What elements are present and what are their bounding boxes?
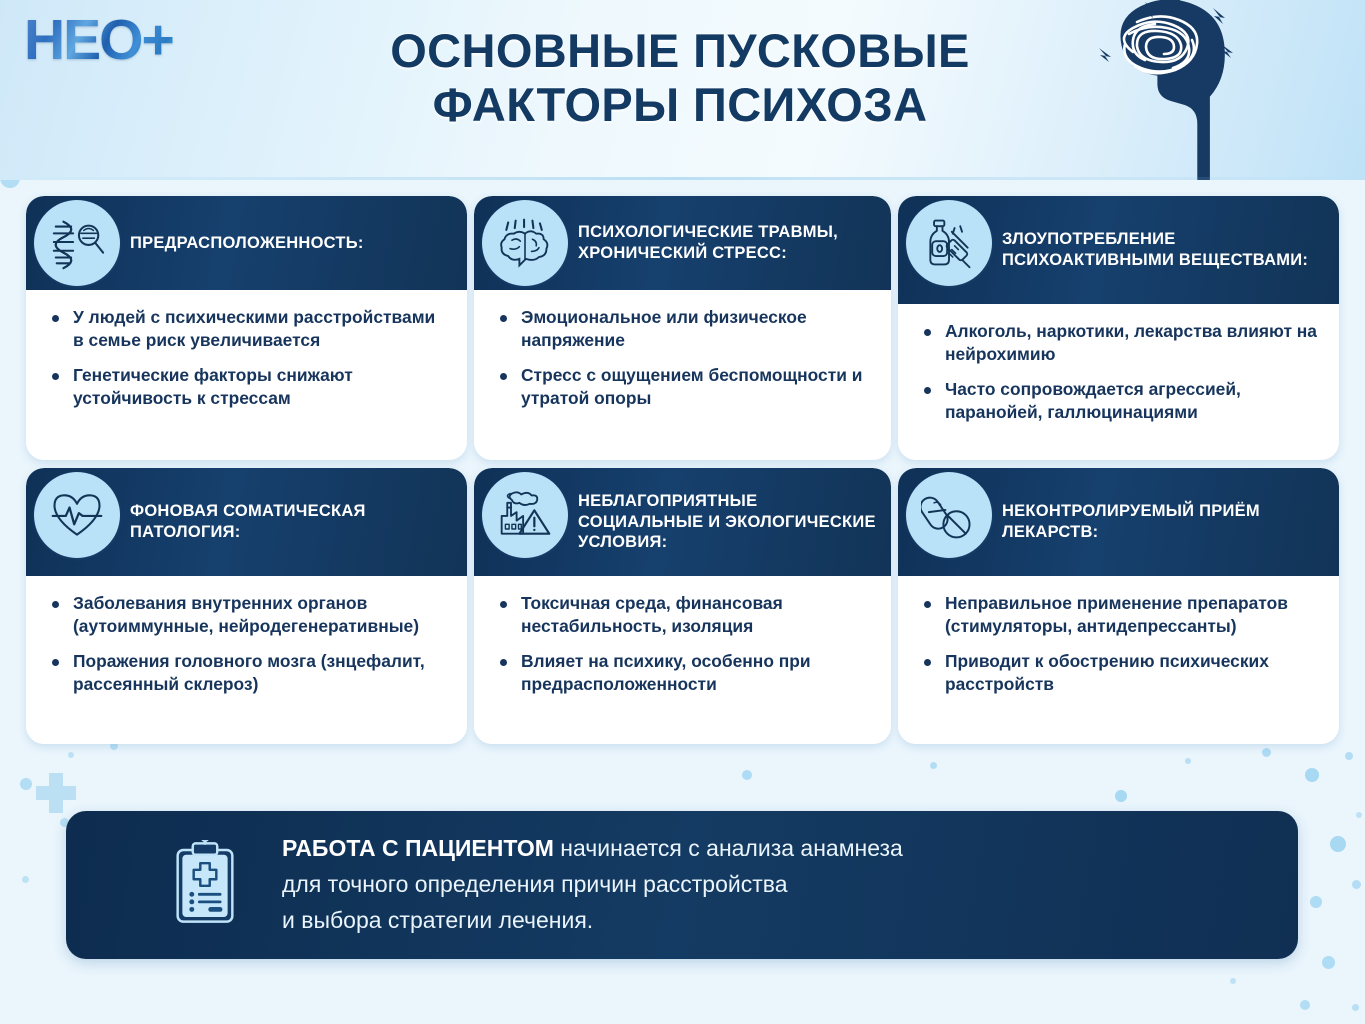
bullet-list: Токсичная среда, финансовая нестабильнос… [496,592,873,696]
banner-text: РАБОТА С ПАЦИЕНТОМ начинается с анализа … [282,831,903,939]
list-item: Генетические факторы снижают устойчивост… [48,364,449,409]
card-body: Токсичная среда, финансовая нестабильнос… [474,576,891,744]
factor-card-predisposition: ПРЕДРАСПОЛОЖЕННОСТЬ: У людей с психическ… [26,196,467,460]
head-with-tangled-thoughts-icon [1075,0,1305,180]
plus-decor-icon [36,786,76,800]
card-title: ФОНОВАЯ СОМАТИЧЕСКАЯ ПАТОЛОГИЯ: [130,501,467,543]
page-title-line-2: ФАКТОРЫ ПСИХОЗА [300,78,1060,132]
list-item: Стресс с ощущением беспомощности и утрат… [496,364,873,409]
list-item: Эмоциональное или физическое напряжение [496,306,873,351]
bullet-list: Заболевания внутренних органов (аутоимму… [48,592,449,696]
bottom-banner: РАБОТА С ПАЦИЕНТОМ начинается с анализа … [66,811,1298,959]
bullet-list: Эмоциональное или физическое напряжение … [496,306,873,410]
page-title: ОСНОВНЫЕ ПУСКОВЫЕ ФАКТОРЫ ПСИХОЗА [300,24,1060,131]
banner-line-1: РАБОТА С ПАЦИЕНТОМ начинается с анализа … [282,831,903,867]
banner-line-2: для точного определения причин расстройс… [282,867,903,903]
list-item: Влияет на психику, особенно при предрасп… [496,650,873,695]
page-header: НЕО+ ОСНОВНЫЕ ПУСКОВЫЕ ФАКТОРЫ ПСИХОЗА [0,0,1365,180]
list-item: Часто сопровождается агрессией, паранойе… [920,378,1321,423]
list-item: Заболевания внутренних органов (аутоимму… [48,592,449,637]
stressed-brain-icon [482,200,568,286]
factor-card-social-ecological: НЕБЛАГОПРИЯТНЫЕ СОЦИАЛЬНЫЕ И ЭКОЛОГИЧЕСК… [474,468,891,744]
banner-lead: РАБОТА С ПАЦИЕНТОМ [282,835,554,861]
card-title: НЕКОНТРОЛИРУЕМЫЙ ПРИЁМ ЛЕКАРСТВ: [1002,501,1339,543]
card-title: ЗЛОУПОТРЕБЛЕНИЕ ПСИХОАКТИВНЫМИ ВЕЩЕСТВАМ… [1002,229,1339,271]
bullet-list: Неправильное применение препаратов (стим… [920,592,1321,696]
card-body: У людей с психическими расстройствами в … [26,290,467,460]
factor-cards-grid: ПРЕДРАСПОЛОЖЕННОСТЬ: У людей с психическ… [26,196,1339,744]
bullet-list: У людей с психическими расстройствами в … [48,306,449,410]
brand-logo: НЕО+ [24,12,173,69]
card-title: НЕБЛАГОПРИЯТНЫЕ СОЦИАЛЬНЫЕ И ЭКОЛОГИЧЕСК… [578,491,891,553]
factor-card-uncontrolled-medication: НЕКОНТРОЛИРУЕМЫЙ ПРИЁМ ЛЕКАРСТВ: Неправи… [898,468,1339,744]
heart-pulse-icon [34,472,120,558]
bottle-syringe-icon [906,200,992,286]
factor-card-somatic-pathology: ФОНОВАЯ СОМАТИЧЕСКАЯ ПАТОЛОГИЯ: Заболева… [26,468,467,744]
list-item: Токсичная среда, финансовая нестабильнос… [496,592,873,637]
factor-card-substance-abuse: ЗЛОУПОТРЕБЛЕНИЕ ПСИХОАКТИВНЫМИ ВЕЩЕСТВАМ… [898,196,1339,460]
factor-card-trauma-stress: ПСИХОЛОГИЧЕСКИЕ ТРАВМЫ, ХРОНИЧЕСКИЙ СТРЕ… [474,196,891,460]
card-title: ПСИХОЛОГИЧЕСКИЕ ТРАВМЫ, ХРОНИЧЕСКИЙ СТРЕ… [578,222,891,264]
list-item: Приводит к обострению психических расстр… [920,650,1321,695]
card-title: ПРЕДРАСПОЛОЖЕННОСТЬ: [130,233,378,254]
factory-warning-icon [482,472,568,558]
dna-magnifier-icon [34,200,120,286]
card-body: Алкоголь, наркотики, лекарства влияют на… [898,304,1339,460]
card-body: Эмоциональное или физическое напряжение … [474,290,891,460]
pills-icon [906,472,992,558]
list-item: Алкоголь, наркотики, лекарства влияют на… [920,320,1321,365]
card-body: Неправильное применение препаратов (стим… [898,576,1339,744]
list-item: Поражения головного мозга (знцефалит, ра… [48,650,449,695]
bullet-list: Алкоголь, наркотики, лекарства влияют на… [920,320,1321,424]
banner-line-1-rest: начинается с анализа анамнеза [554,835,903,861]
list-item: Неправильное применение препаратов (стим… [920,592,1321,637]
infographic-page: НЕО+ ОСНОВНЫЕ ПУСКОВЫЕ ФАКТОРЫ ПСИХОЗА [0,0,1365,1024]
card-body: Заболевания внутренних органов (аутоимму… [26,576,467,744]
list-item: У людей с психическими расстройствами в … [48,306,449,351]
clipboard-medical-icon [172,840,238,931]
page-title-line-1: ОСНОВНЫЕ ПУСКОВЫЕ [300,24,1060,78]
banner-line-3: и выбора стратегии лечения. [282,903,903,939]
